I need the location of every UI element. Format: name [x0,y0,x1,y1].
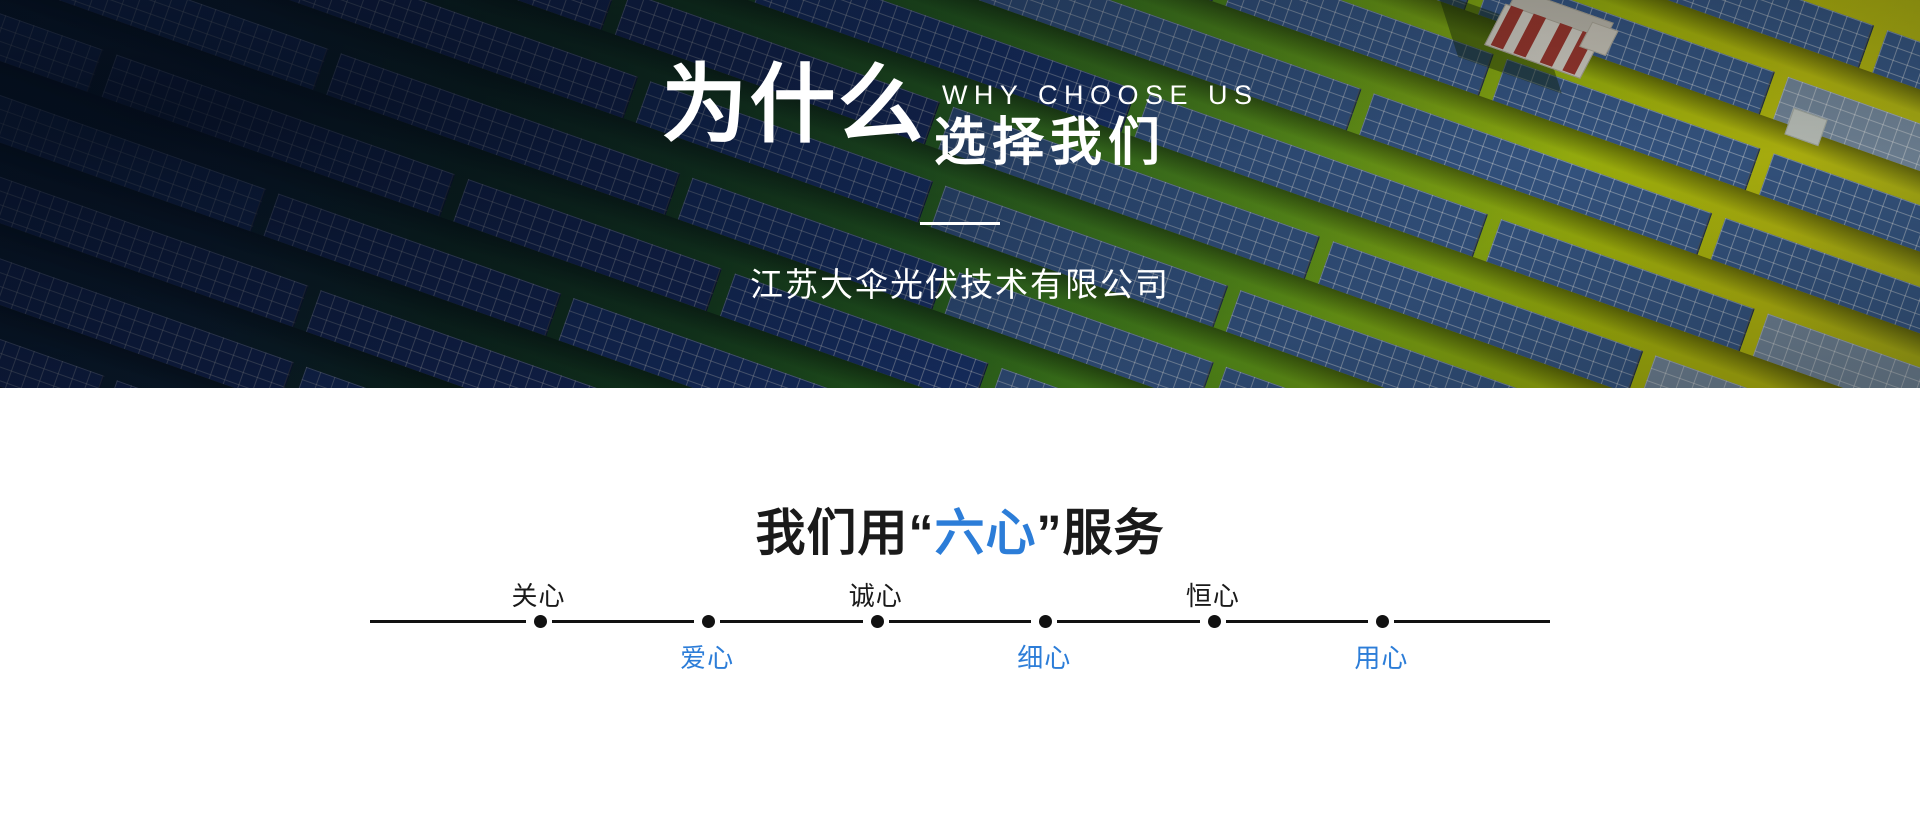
hero-title-english: WHY CHOOSE US [934,62,1259,109]
timeline-label-2: 爱心 [680,645,734,671]
timeline-label-5: 恒心 [1186,583,1240,609]
hero-banner: 为什么 WHY CHOOSE US 选择我们 江苏大伞光伏技术有限公司 [0,0,1920,388]
timeline-label-1: 关心 [512,583,566,609]
hero-title-stack: WHY CHOOSE US 选择我们 [934,62,1259,169]
hero-title-row: 为什么 WHY CHOOSE US 选择我们 [0,62,1920,169]
hero-title-sub: 选择我们 [934,117,1259,169]
six-hearts-timeline: 关心爱心诚心细心恒心用心 [370,566,1550,686]
heading-quote-close: ” [1037,505,1063,561]
timeline-dot-icon[interactable] [871,615,884,628]
timeline-label-6: 用心 [1354,645,1408,671]
heading-suffix: 服务 [1063,505,1165,561]
timeline-label-3: 诚心 [849,583,903,609]
timeline-dot-icon[interactable] [1208,615,1221,628]
hero-title-main: 为什么 [662,62,926,148]
hero-divider [920,222,1000,225]
timeline-label-4: 细心 [1017,645,1071,671]
timeline-dot-icon[interactable] [534,615,547,628]
heading-quote-open: “ [909,505,935,561]
heading-accent: 六心 [935,505,1037,561]
hero-company-name: 江苏大伞光伏技术有限公司 [0,258,1920,306]
heading-prefix: 我们用 [756,505,909,561]
section-heading: 我们用“六心”服务 [0,508,1920,558]
hero-text-block: 为什么 WHY CHOOSE US 选择我们 江苏大伞光伏技术有限公司 [0,0,1920,388]
